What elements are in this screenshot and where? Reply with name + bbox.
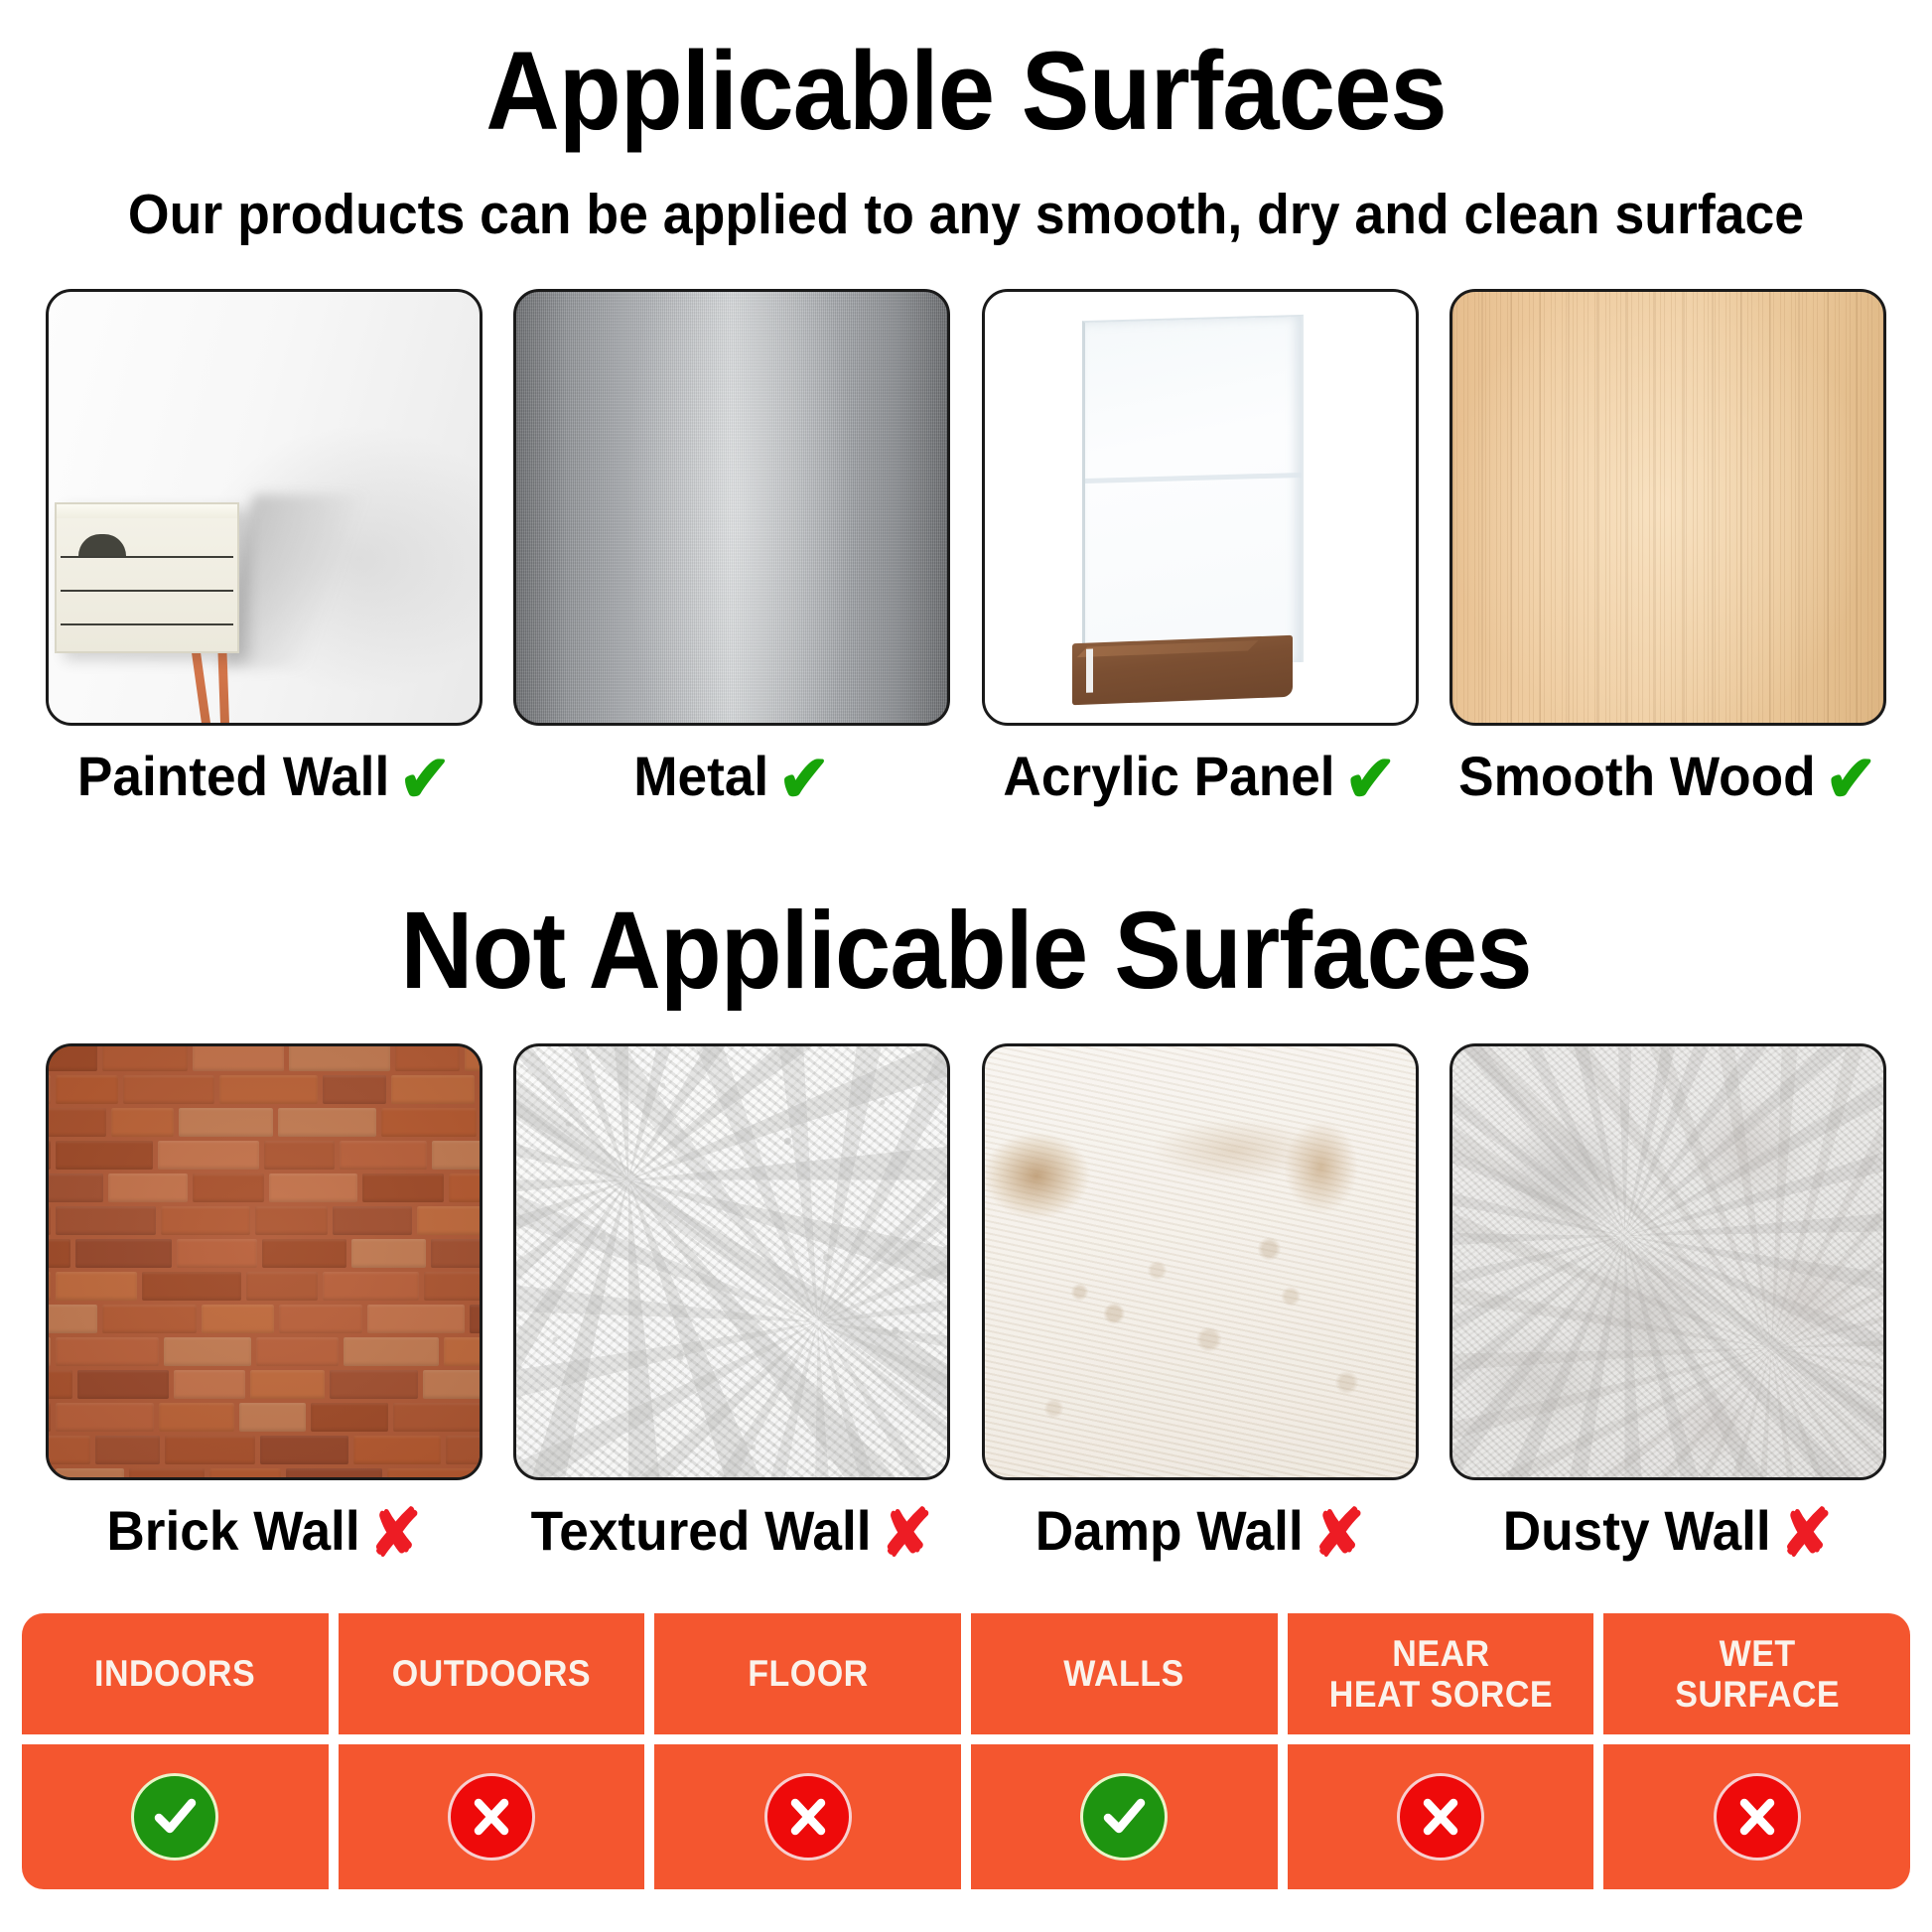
brick: [179, 1108, 273, 1137]
brick: [387, 1468, 475, 1480]
cross-icon: ✘: [881, 1500, 933, 1566]
brick: [129, 1468, 205, 1480]
brick: [286, 1468, 382, 1480]
swatch-painted-wall: Painted Wall ✔: [46, 289, 483, 809]
brick: [333, 1206, 412, 1235]
brick-row: [46, 1141, 483, 1174]
brick: [56, 1272, 137, 1301]
brick: [351, 1239, 426, 1268]
brick-row: [46, 1403, 483, 1437]
not-applicable-surfaces-row: Brick Wall ✘ Textured Wall ✘ Damp Wall ✘…: [0, 1043, 1932, 1564]
brick: [344, 1337, 439, 1366]
usage-header-line1: FLOOR: [748, 1653, 868, 1694]
swatch-label-text: Metal: [633, 749, 768, 804]
brick: [46, 1436, 90, 1464]
brick-row: [46, 1075, 483, 1109]
swatch-label-painted-wall: Painted Wall ✔: [77, 744, 451, 809]
brick: [367, 1305, 465, 1333]
brick: [362, 1173, 444, 1202]
applicable-surfaces-row: Painted Wall ✔ Metal ✔ Acrylic Panel ✔ S…: [0, 289, 1932, 809]
brick: [46, 1468, 51, 1480]
swatch-dusty-wall: Dusty Wall ✘: [1449, 1043, 1886, 1564]
usage-header-line1: WALLS: [1064, 1653, 1184, 1694]
smooth-wood-image: [1449, 289, 1886, 726]
cross-badge-icon: [764, 1773, 852, 1861]
brick: [202, 1305, 274, 1333]
cabinet-drawer-line: [61, 590, 233, 592]
cabinet-top: [57, 504, 237, 518]
brick: [449, 1173, 483, 1202]
swatch-label-smooth-wood: Smooth Wood ✔: [1458, 744, 1877, 809]
brick: [102, 1043, 188, 1071]
wall-shadow: [221, 494, 371, 669]
usage-status-cell: [1288, 1744, 1594, 1889]
swatch-label-text: Textured Wall: [531, 1503, 872, 1559]
swatch-label-text: Smooth Wood: [1458, 749, 1816, 804]
swatch-label-text: Damp Wall: [1035, 1503, 1304, 1559]
metal-image: [513, 289, 950, 726]
cabinet-drawer-line: [61, 623, 233, 625]
usage-header-floor: FLOOR: [654, 1613, 961, 1734]
brick-wall-image: [46, 1043, 483, 1480]
brick: [56, 1337, 159, 1366]
usage-header-label: WETSURFACE: [1675, 1633, 1840, 1716]
brick-row: [46, 1337, 483, 1371]
check-icon: ✔: [1825, 746, 1877, 811]
brick: [482, 1108, 483, 1137]
cross-badge-icon: [448, 1773, 535, 1861]
brick: [77, 1370, 169, 1399]
check-icon: ✔: [399, 746, 452, 811]
page-subtitle: Our products can be applied to any smoot…: [58, 147, 1873, 243]
brick: [102, 1305, 197, 1333]
brick-row: [46, 1043, 483, 1076]
brick: [219, 1075, 318, 1104]
brick: [323, 1075, 386, 1104]
dusty-wall-image: [1449, 1043, 1886, 1480]
brick: [46, 1239, 70, 1268]
brick: [260, 1436, 348, 1464]
brick: [111, 1108, 174, 1137]
usage-status-cell: [22, 1744, 329, 1889]
usage-header-label: NEARHEAT SORCE: [1328, 1633, 1552, 1716]
brick-row: [46, 1468, 483, 1480]
usage-header-line2: HEAT SORCE: [1328, 1674, 1552, 1715]
brick: [444, 1337, 483, 1366]
brick: [46, 1141, 51, 1170]
brick: [250, 1370, 325, 1399]
swatch-label-brick-wall: Brick Wall ✘: [106, 1498, 421, 1564]
brick: [46, 1075, 51, 1104]
brick: [46, 1173, 103, 1202]
brick: [423, 1370, 483, 1399]
check-badge-icon: [131, 1773, 218, 1861]
usage-header-line1: NEAR: [1328, 1633, 1552, 1674]
usage-header-outdoors: OUTDOORS: [339, 1613, 645, 1734]
brick: [123, 1075, 214, 1104]
acrylic-panel-image: [982, 289, 1419, 726]
brick: [193, 1173, 264, 1202]
brick: [424, 1272, 483, 1301]
cross-icon: ✘: [1780, 1500, 1833, 1566]
page-title: Applicable Surfaces: [77, 0, 1855, 147]
brick-row: [46, 1272, 483, 1306]
usage-header-label: INDOORS: [94, 1653, 255, 1694]
brick: [108, 1173, 188, 1202]
brick-row: [46, 1305, 483, 1338]
brick: [46, 1403, 51, 1432]
brick: [311, 1403, 388, 1432]
swatch-label-metal: Metal ✔: [633, 744, 830, 809]
brick: [264, 1141, 335, 1170]
brick: [255, 1206, 328, 1235]
brick: [480, 1468, 483, 1480]
brick: [46, 1305, 97, 1333]
cross-icon: ✘: [1312, 1500, 1365, 1566]
brick: [239, 1403, 306, 1432]
swatch-smooth-wood: Smooth Wood ✔: [1449, 289, 1886, 809]
swatch-label-text: Brick Wall: [106, 1503, 359, 1559]
usage-table: INDOORSOUTDOORSFLOORWALLSNEARHEAT SORCEW…: [22, 1613, 1910, 1889]
brick: [278, 1108, 376, 1137]
brick: [431, 1239, 483, 1268]
brick: [46, 1337, 51, 1366]
check-badge-icon: [1080, 1773, 1168, 1861]
usage-header-line1: INDOORS: [94, 1653, 255, 1694]
painted-wall-image: [46, 289, 483, 726]
base-slot: [1086, 648, 1093, 692]
usage-status-cell: [971, 1744, 1278, 1889]
swatch-label-text: Dusty Wall: [1503, 1503, 1771, 1559]
swatch-acrylic-panel: Acrylic Panel ✔: [982, 289, 1419, 809]
acrylic-sheet: [1082, 315, 1304, 668]
brick: [289, 1043, 390, 1071]
swatch-label-text: Acrylic Panel: [1004, 749, 1335, 804]
usage-header-label: OUTDOORS: [392, 1653, 591, 1694]
usage-header-walls: WALLS: [971, 1613, 1278, 1734]
cabinet-drawer-line: [61, 556, 233, 558]
brick: [56, 1141, 153, 1170]
brick: [46, 1108, 106, 1137]
brick-row: [46, 1370, 483, 1404]
swatch-label-text: Painted Wall: [77, 749, 389, 804]
brick: [159, 1403, 234, 1432]
brick: [381, 1108, 477, 1137]
brick: [417, 1206, 483, 1235]
brick: [279, 1305, 362, 1333]
brick: [340, 1141, 427, 1170]
wooden-base: [1072, 635, 1293, 706]
brick: [446, 1436, 483, 1464]
check-icon: ✔: [1344, 746, 1397, 811]
brick: [177, 1239, 257, 1268]
brick: [323, 1272, 419, 1301]
usage-header-line2: SURFACE: [1675, 1674, 1840, 1715]
brick: [75, 1239, 172, 1268]
usage-header-indoors: INDOORS: [22, 1613, 329, 1734]
brick: [56, 1206, 156, 1235]
usage-header-label: FLOOR: [748, 1653, 868, 1694]
textured-wall-image: [513, 1043, 950, 1480]
brick: [209, 1468, 281, 1480]
brick: [470, 1305, 483, 1333]
brick-row: [46, 1108, 483, 1142]
brick: [46, 1206, 51, 1235]
swatch-damp-wall: Damp Wall ✘: [982, 1043, 1419, 1564]
swatch-brick-wall: Brick Wall ✘: [46, 1043, 483, 1564]
brick-row: [46, 1436, 483, 1469]
brick: [393, 1403, 483, 1432]
cabinet-handle: [78, 534, 126, 556]
swatch-label-textured-wall: Textured Wall ✘: [531, 1498, 933, 1564]
brick: [174, 1370, 245, 1399]
brick: [56, 1075, 118, 1104]
usage-header-wet: WETSURFACE: [1603, 1613, 1910, 1734]
swatch-metal: Metal ✔: [513, 289, 950, 809]
brick: [256, 1337, 339, 1366]
brick: [46, 1370, 72, 1399]
brick: [56, 1403, 154, 1432]
swatch-label-acrylic-panel: Acrylic Panel ✔: [1004, 744, 1397, 809]
brick: [142, 1272, 241, 1301]
brick: [330, 1370, 418, 1399]
brick: [46, 1272, 51, 1301]
brick: [46, 1043, 97, 1071]
check-icon: ✔: [778, 746, 831, 811]
brick: [165, 1436, 255, 1464]
brick: [480, 1075, 483, 1104]
cross-icon: ✘: [369, 1500, 422, 1566]
brick-row: [46, 1206, 483, 1240]
brick: [262, 1239, 346, 1268]
swatch-label-damp-wall: Damp Wall ✘: [1035, 1498, 1365, 1564]
brick: [269, 1173, 357, 1202]
brick: [56, 1468, 124, 1480]
cross-badge-icon: [1397, 1773, 1484, 1861]
usage-header-line1: OUTDOORS: [392, 1653, 591, 1694]
cross-badge-icon: [1714, 1773, 1801, 1861]
brick: [158, 1141, 259, 1170]
swatch-label-dusty-wall: Dusty Wall ✘: [1503, 1498, 1833, 1564]
brick-row: [46, 1239, 483, 1273]
usage-status-cell: [339, 1744, 645, 1889]
usage-status-cell: [654, 1744, 961, 1889]
brick-row: [46, 1173, 483, 1207]
brick: [246, 1272, 318, 1301]
usage-status-cell: [1603, 1744, 1910, 1889]
brick: [395, 1043, 460, 1071]
section-heading-not-applicable: Not Applicable Surfaces: [77, 897, 1855, 1006]
cabinet-leg: [191, 647, 212, 726]
usage-header-label: WALLS: [1064, 1653, 1184, 1694]
brick: [95, 1436, 160, 1464]
brick: [161, 1206, 250, 1235]
brick: [432, 1141, 483, 1170]
brick: [391, 1075, 475, 1104]
metal-sheen: [516, 292, 947, 723]
brick: [353, 1436, 441, 1464]
brick: [193, 1043, 284, 1071]
swatch-textured-wall: Textured Wall ✘: [513, 1043, 950, 1564]
damp-wall-image: [982, 1043, 1419, 1480]
brick: [465, 1043, 483, 1071]
usage-header-line1: WET: [1675, 1633, 1840, 1674]
usage-header-near: NEARHEAT SORCE: [1288, 1613, 1594, 1734]
cabinet: [55, 502, 239, 653]
brick: [164, 1337, 251, 1366]
